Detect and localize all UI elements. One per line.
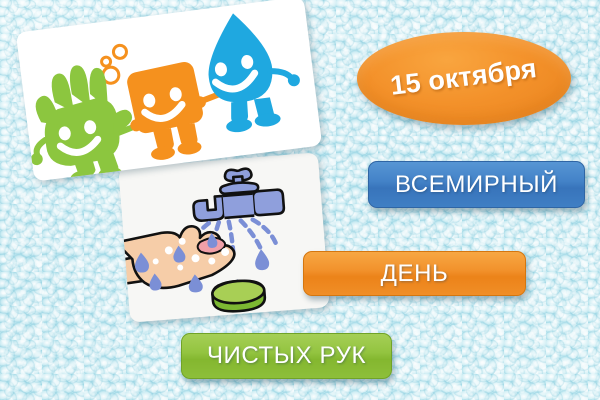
orange-soap-character: [125, 59, 210, 163]
button-worldwide-label: ВСЕМИРНЫЙ: [395, 171, 558, 199]
green-hand-character: [20, 59, 140, 181]
button-clean-hands[interactable]: ЧИСТЫХ РУК: [181, 333, 392, 379]
button-day-label: ДЕНЬ: [381, 260, 449, 288]
button-day[interactable]: ДЕНЬ: [303, 251, 526, 296]
faucet-icon: [191, 166, 285, 221]
handwashing-illustration: [118, 152, 330, 322]
soap-bar-icon: [212, 279, 266, 313]
button-worldwide[interactable]: ВСЕМИРНЫЙ: [368, 161, 585, 208]
handwashing-illustration-card: [118, 152, 330, 322]
date-badge-label: 15 октября: [389, 53, 539, 102]
date-badge[interactable]: 15 октября: [357, 32, 571, 125]
poster-canvas: 15 октября ВСЕМИРНЫЙ ДЕНЬ ЧИСТЫХ РУК: [0, 0, 600, 400]
blue-water-drop-character: [201, 6, 305, 135]
button-clean-hands-label: ЧИСТЫХ РУК: [207, 342, 366, 370]
